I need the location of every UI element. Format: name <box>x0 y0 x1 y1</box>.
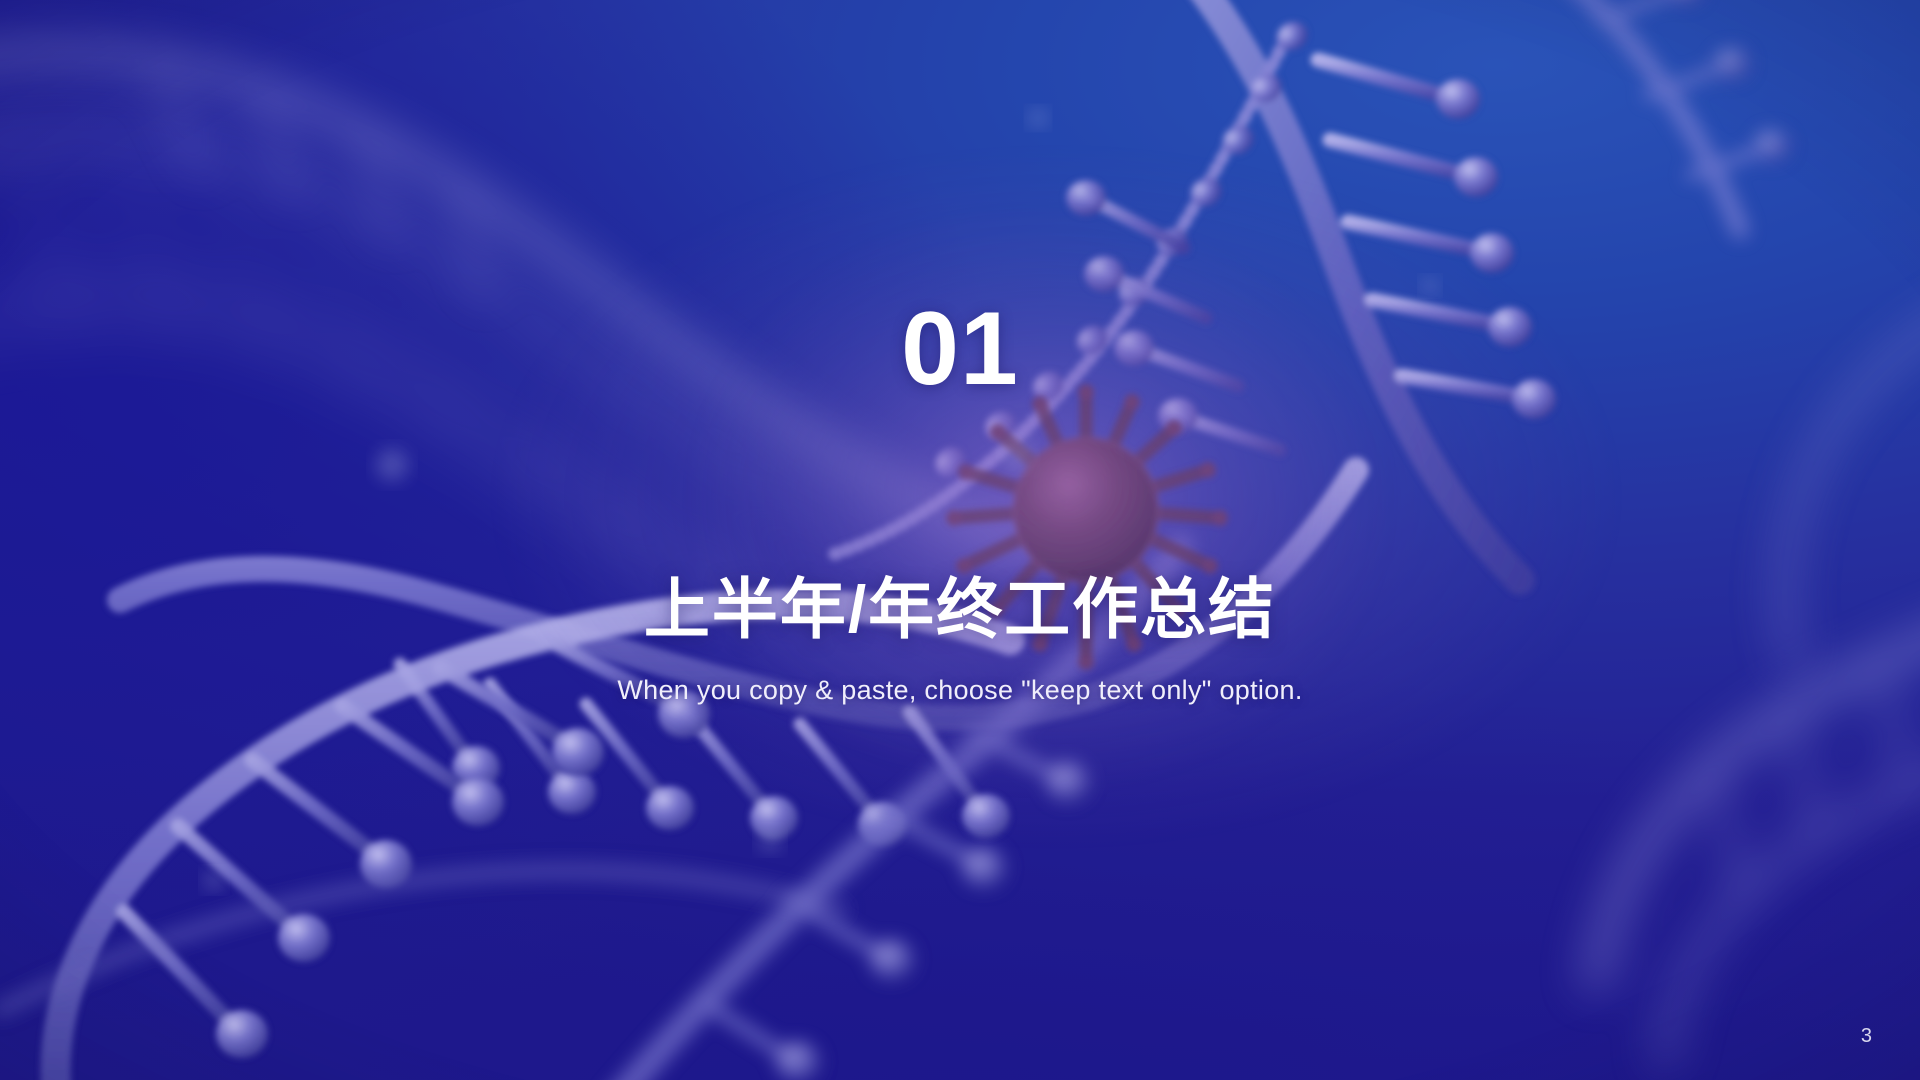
page-title: 上半年/年终工作总结 <box>0 574 1920 645</box>
section-number: 01 <box>0 297 1920 401</box>
slide-content: 01 上半年/年终工作总结 When you copy & paste, cho… <box>0 0 1920 1080</box>
presentation-slide: 01 上半年/年终工作总结 When you copy & paste, cho… <box>0 0 1920 1080</box>
page-number: 3 <box>1861 1026 1872 1046</box>
section-subtitle: When you copy & paste, choose "keep text… <box>0 673 1920 708</box>
